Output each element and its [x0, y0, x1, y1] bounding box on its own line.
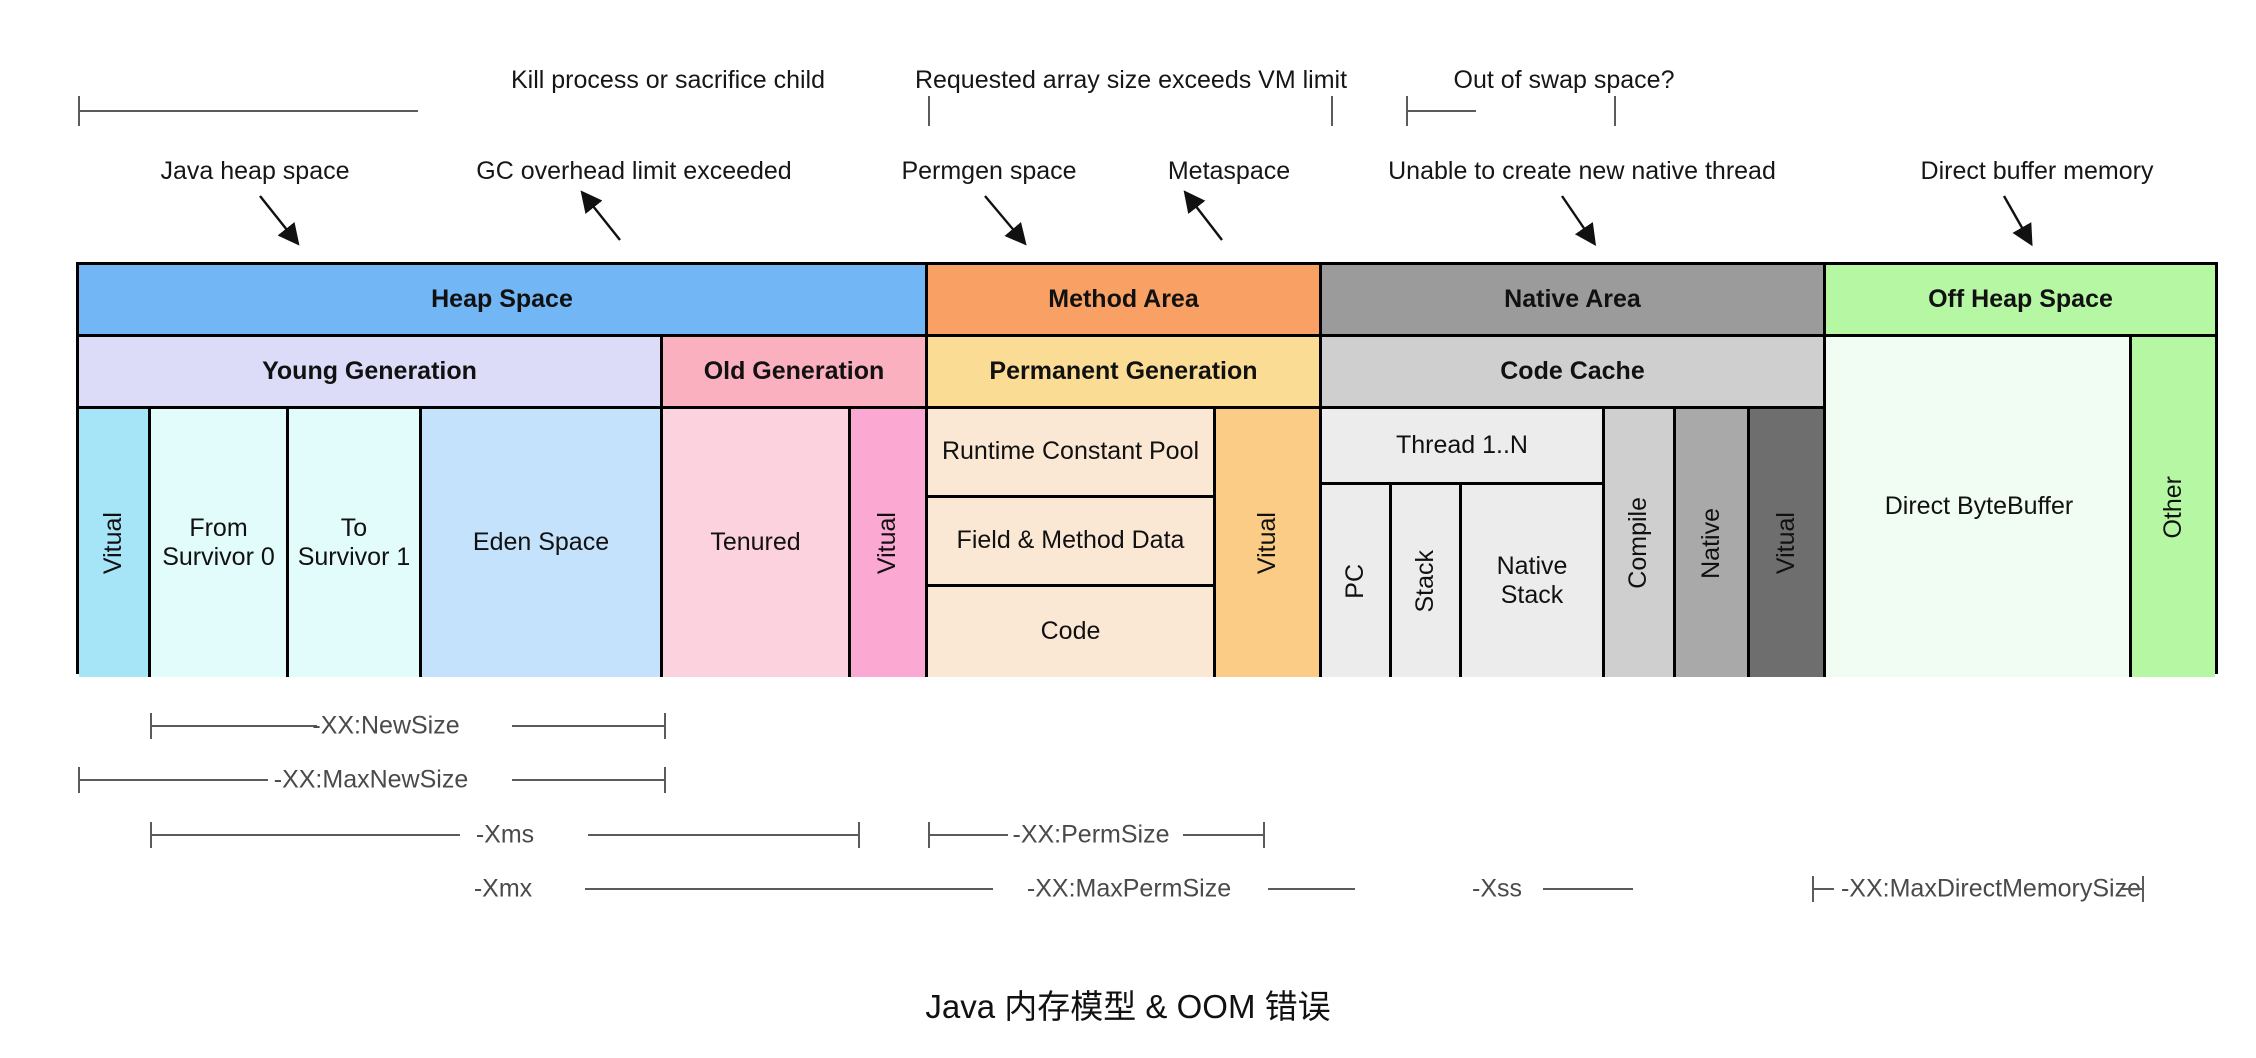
- generation-young-label: Young Generation: [262, 357, 477, 387]
- flag-line-maxpermsize-right: [1268, 888, 1355, 890]
- detail-runtime-constant-pool: Runtime Constant Pool: [928, 409, 1216, 498]
- detail-code: Code: [928, 587, 1216, 677]
- flag-tick-newsize-right: [664, 713, 666, 739]
- flag-line-permsize-right: [1183, 834, 1263, 836]
- detail-stack: Stack: [1392, 485, 1462, 677]
- detail-native-stack: NativeStack: [1462, 485, 1605, 677]
- detail-native-vitual: Vitual: [1750, 409, 1826, 677]
- detail-direct-bytebuffer: Direct ByteBuffer: [1826, 337, 2132, 677]
- detail-thread-1-n: Thread 1..N: [1322, 409, 1605, 485]
- detail-young-vitual-label: Vitual: [99, 512, 129, 574]
- detail-permgen-vitual-label: Vitual: [1253, 512, 1283, 574]
- generation-permanent-label: Permanent Generation: [989, 357, 1257, 387]
- arrow-group: [0, 0, 2256, 262]
- area-method-area-label: Method Area: [1048, 285, 1198, 315]
- detail-runtime-constant-pool-label: Runtime Constant Pool: [942, 437, 1199, 467]
- flag-label-maxdirectmemorysize: -XX:MaxDirectMemorySize: [1841, 875, 2141, 904]
- flag-tick-permsize-right: [1263, 822, 1265, 848]
- detail-eden-space: Eden Space: [422, 409, 663, 677]
- flag-label-maxnewsize: -XX:MaxNewSize: [274, 766, 469, 795]
- detail-to-survivor-1-label: ToSurvivor 1: [298, 514, 411, 573]
- flag-tick-maxnewsize-right: [664, 767, 666, 793]
- detail-old-vitual: Vitual: [851, 409, 928, 677]
- detail-other: Other: [2132, 337, 2215, 677]
- diagram-canvas: Kill process or sacrifice child Requeste…: [0, 0, 2256, 1058]
- flag-line-xms-left: [150, 834, 460, 836]
- detail-to-survivor-1: ToSurvivor 1: [289, 409, 422, 677]
- flag-label-permsize: -XX:PermSize: [1013, 821, 1170, 850]
- detail-compile: Compile: [1605, 409, 1676, 677]
- flag-line-maxdirect-right: [2122, 888, 2144, 890]
- detail-thread-1-n-label: Thread 1..N: [1396, 431, 1528, 461]
- generation-code-cache-label: Code Cache: [1500, 357, 1644, 387]
- flag-tick-xms-right: [858, 822, 860, 848]
- detail-eden-space-label: Eden Space: [473, 528, 609, 558]
- flag-tick-maxdirect-right: [2142, 876, 2144, 902]
- flag-label-xss: -Xss: [1472, 875, 1522, 904]
- detail-tenured-label: Tenured: [710, 528, 800, 558]
- generation-permanent: Permanent Generation: [928, 337, 1322, 409]
- generation-young: Young Generation: [79, 337, 663, 409]
- area-native-area-label: Native Area: [1504, 285, 1641, 315]
- area-heap-space: Heap Space: [79, 265, 928, 337]
- detail-native-stack-label: NativeStack: [1497, 552, 1568, 611]
- flag-line-newsize-right: [512, 725, 664, 727]
- flag-label-newsize: -XX:NewSize: [312, 712, 459, 741]
- detail-direct-bytebuffer-label: Direct ByteBuffer: [1885, 492, 2074, 522]
- generation-old-label: Old Generation: [704, 357, 885, 387]
- detail-pc: PC: [1322, 485, 1392, 677]
- flag-label-xms: -Xms: [476, 821, 534, 850]
- flag-line-permsize-left: [928, 834, 1008, 836]
- flag-line-xss-right: [1543, 888, 1633, 890]
- generation-code-cache: Code Cache: [1322, 337, 1826, 409]
- flag-line-xmx-right: [585, 888, 993, 890]
- detail-compile-label: Compile: [1624, 497, 1654, 589]
- memory-layout-table: Heap Space Method Area Native Area Off H…: [76, 262, 2218, 674]
- generation-old: Old Generation: [663, 337, 928, 409]
- area-off-heap-space-label: Off Heap Space: [1928, 285, 2113, 315]
- detail-field-method-data-label: Field & Method Data: [957, 526, 1185, 556]
- flag-line-maxnewsize-left: [78, 779, 268, 781]
- flag-line-maxnewsize-right: [512, 779, 664, 781]
- detail-from-survivor-0: FromSurvivor 0: [151, 409, 289, 677]
- flag-label-maxpermsize: -XX:MaxPermSize: [1027, 875, 1231, 904]
- detail-old-vitual-label: Vitual: [873, 512, 903, 574]
- detail-permgen-vitual: Vitual: [1216, 409, 1322, 677]
- detail-tenured: Tenured: [663, 409, 851, 677]
- detail-from-survivor-0-label: FromSurvivor 0: [162, 514, 275, 573]
- detail-other-label: Other: [2159, 476, 2189, 539]
- flag-line-xms-right: [588, 834, 858, 836]
- flag-label-xmx: -Xmx: [474, 875, 532, 904]
- area-native-area: Native Area: [1322, 265, 1826, 337]
- detail-native: Native: [1676, 409, 1750, 677]
- area-method-area: Method Area: [928, 265, 1322, 337]
- area-heap-space-label: Heap Space: [431, 285, 573, 315]
- detail-native-label: Native: [1697, 508, 1727, 579]
- detail-stack-label: Stack: [1411, 550, 1441, 613]
- detail-pc-label: PC: [1341, 564, 1371, 599]
- detail-field-method-data: Field & Method Data: [928, 498, 1216, 587]
- flag-line-maxdirect-left: [1812, 888, 1834, 890]
- detail-code-label: Code: [1041, 617, 1101, 647]
- flag-line-newsize-left: [150, 725, 317, 727]
- diagram-caption: Java 内存模型 & OOM 错误: [0, 980, 2256, 1028]
- area-off-heap-space: Off Heap Space: [1826, 265, 2215, 337]
- detail-native-vitual-label: Vitual: [1772, 512, 1802, 574]
- detail-young-vitual: Vitual: [79, 409, 151, 677]
